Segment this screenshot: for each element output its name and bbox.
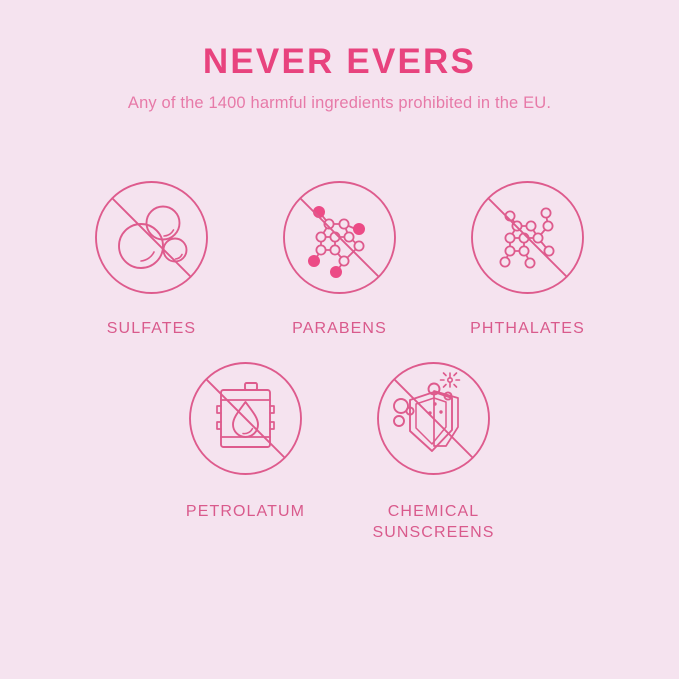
page-subtitle: Any of the 1400 harmful ingredients proh… [0, 94, 679, 114]
icon-row-top: SULFATES [0, 180, 679, 339]
item-label: PHTHALATES [470, 319, 585, 339]
never-ever-item-sulfates: SULFATES [94, 180, 209, 339]
icon-row-bottom: PETROLATUM [0, 361, 679, 543]
item-label: SULFATES [107, 319, 196, 339]
oil-barrel-prohibited-icon [188, 361, 303, 476]
header: NEVER EVERS Any of the 1400 harmful ingr… [0, 0, 679, 114]
never-evers-infographic: NEVER EVERS Any of the 1400 harmful ingr… [0, 0, 679, 679]
never-ever-item-petrolatum: PETROLATUM [188, 361, 303, 522]
never-ever-item-chemical-sunscreens: CHEMICAL SUNSCREENS [376, 361, 491, 543]
sunscreen-bottle-prohibited-icon [376, 361, 491, 476]
bubbles-prohibited-icon [94, 180, 209, 295]
never-evers-grid: SULFATES [0, 180, 679, 543]
molecule-filled-prohibited-icon [282, 180, 397, 295]
page-title: NEVER EVERS [0, 44, 679, 79]
item-label: CHEMICAL SUNSCREENS [372, 502, 494, 543]
never-ever-item-parabens: PARABENS [282, 180, 397, 339]
never-ever-item-phthalates: PHTHALATES [470, 180, 585, 339]
item-label: PETROLATUM [186, 502, 305, 522]
item-label: PARABENS [292, 319, 387, 339]
molecule-outline-prohibited-icon [470, 180, 585, 295]
